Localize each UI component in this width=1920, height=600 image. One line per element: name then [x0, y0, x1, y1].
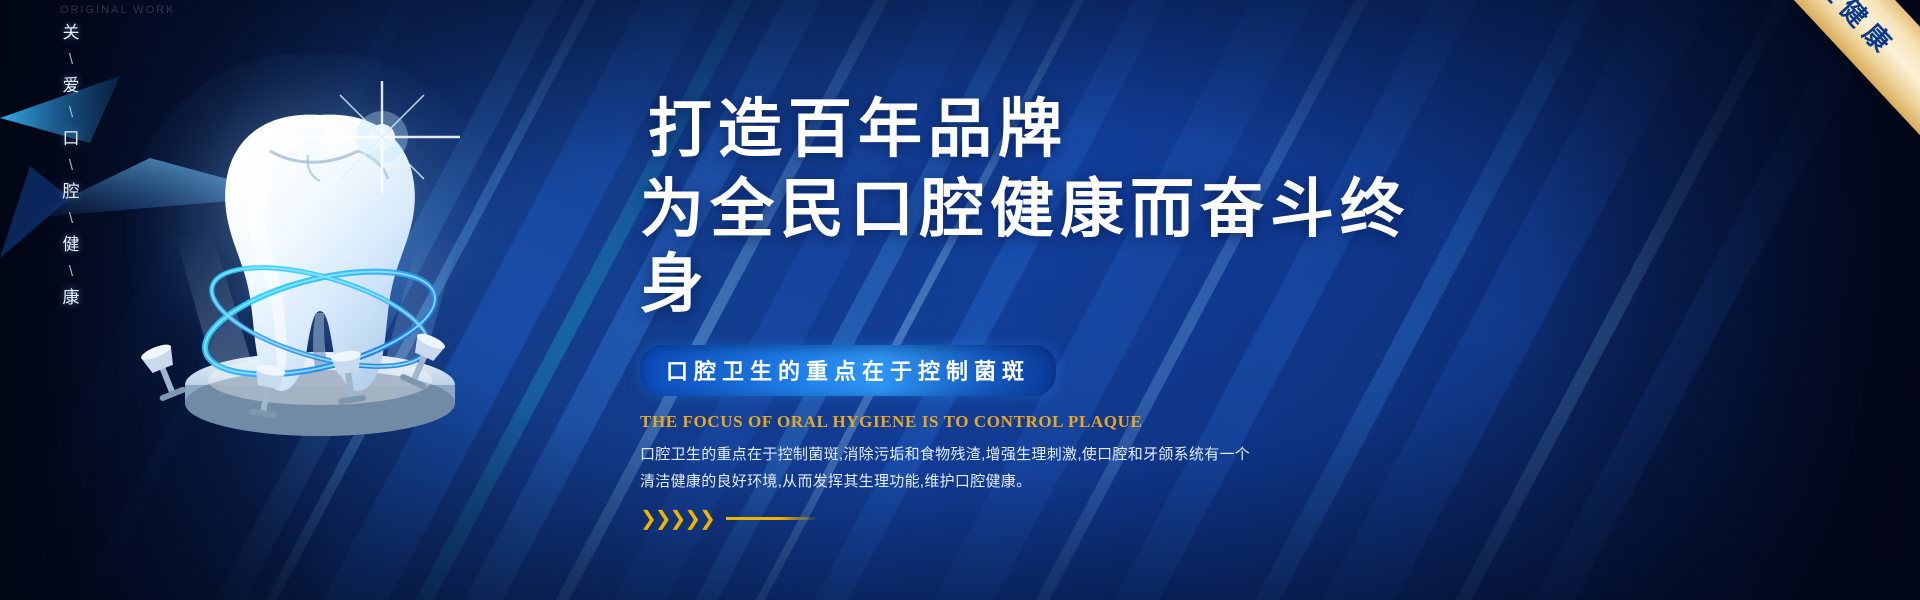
description-paragraph: 口腔卫生的重点在于控制菌斑,消除污垢和食物残渣,增强生理刺激,使口腔和牙颌系统有… — [640, 441, 1460, 497]
paragraph-line-1: 口腔卫生的重点在于控制菌斑,消除污垢和食物残渣,增强生理刺激,使口腔和牙颌系统有… — [640, 441, 1460, 469]
caption-char-2: 口 — [63, 130, 80, 147]
headline-line-1: 打造百年品牌 — [648, 92, 1460, 168]
corner-ribbon: 关爱口腔健康 — [1649, 0, 1920, 159]
paragraph-line-2: 清洁健康的良好环境,从而发挥其生理功能,维护口腔健康。 — [640, 468, 1460, 496]
caption-separator: \ — [69, 263, 73, 280]
banner-content: 打造百年品牌 为全民口腔健康而奋斗终身 口腔卫生的重点在于控制菌斑 THE FO… — [640, 92, 1460, 528]
tooth-illustration — [120, 55, 520, 455]
left-vertical-caption: 关 \ 爱 \ 口 \ 腔 \ 健 \ 康 — [48, 24, 94, 324]
headline-line-2: 为全民口腔健康而奋斗终身 — [640, 172, 1460, 323]
caption-char-0: 关 — [63, 24, 80, 41]
chevron-right-icon: ❯ — [699, 508, 716, 528]
chevron-arrows-decoration: ❯ ❯ ❯ ❯ ❯ — [640, 508, 1460, 528]
watermark-text: ORIGINAL WORK — [60, 4, 175, 16]
caption-separator: \ — [69, 157, 73, 174]
dental-promo-banner: ORIGINAL WORK 关 \ 爱 \ 口 \ 腔 \ 健 \ 康 — [0, 0, 1920, 600]
caption-separator: \ — [69, 104, 73, 121]
caption-char-3: 腔 — [63, 183, 80, 200]
gold-rule — [726, 517, 818, 520]
caption-char-4: 健 — [63, 236, 80, 253]
right-dark-fade — [1540, 0, 1920, 600]
caption-separator: \ — [69, 51, 73, 68]
corner-ribbon-label: 关爱口腔健康 — [1740, 0, 1906, 64]
caption-char-1: 爱 — [63, 77, 80, 94]
caption-char-5: 康 — [63, 289, 80, 306]
caption-separator: \ — [69, 210, 73, 227]
tagline-badge[interactable]: 口腔卫生的重点在于控制菌斑 — [640, 345, 1056, 396]
english-subtitle: THE FOCUS OF ORAL HYGIENE IS TO CONTROL … — [640, 412, 1460, 432]
